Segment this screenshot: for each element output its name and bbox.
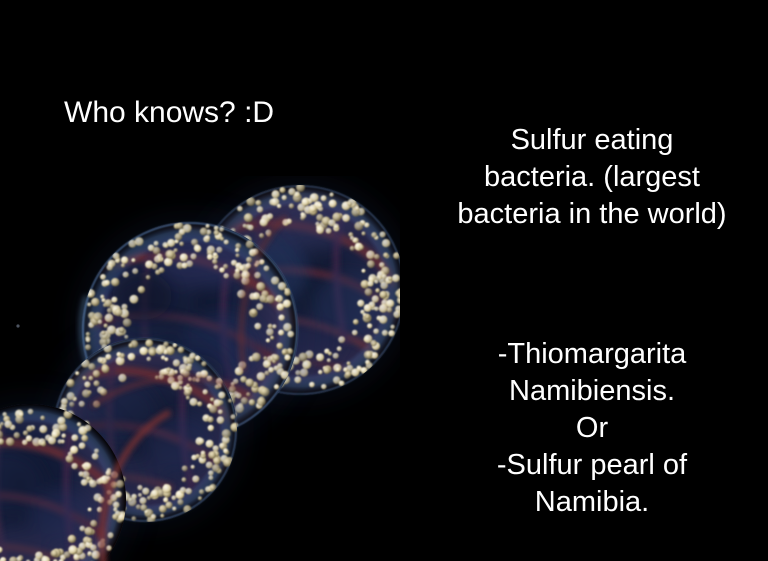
caption-who-knows: Who knows? :D [64, 94, 274, 131]
dust-speck [16, 324, 19, 327]
cell-body [195, 185, 400, 395]
cell-rim-glow [53, 338, 237, 522]
cell-membrane [83, 223, 297, 437]
caption-right-column: Sulfur eating bacteria. (largest bacteri… [424, 85, 760, 558]
cell-rim-glow [82, 222, 298, 438]
cell-outer-haze [74, 214, 306, 446]
bacterium-cell-lower-middle [45, 330, 245, 530]
bacterium-cell-center [74, 214, 306, 446]
septum-a-b [102, 412, 170, 561]
cell-internal-texture [0, 426, 124, 561]
cell-membrane [196, 186, 400, 394]
caption-spacer [424, 270, 760, 299]
septum-b-c [92, 378, 248, 406]
sulfur-granules [200, 183, 400, 389]
sulfur-granules [52, 339, 240, 524]
cell-body [53, 338, 237, 522]
micrograph-background [0, 176, 400, 561]
cell-membrane [54, 339, 236, 521]
bacterium-cell-bottom-left [0, 396, 134, 561]
cell-vignette [82, 222, 298, 438]
cell-vignette [53, 338, 237, 522]
cell-body [82, 222, 298, 438]
micrograph-svg [0, 176, 400, 561]
cell-rim-highlight [81, 296, 96, 382]
cell-internal-texture [206, 191, 400, 374]
bacterium-cell-upper-right [188, 178, 400, 402]
caption-description: Sulfur eating bacteria. (largest bacteri… [424, 122, 760, 233]
cell-outer-haze [188, 178, 400, 402]
cell-rim-glow [0, 404, 126, 561]
slide-canvas: Who knows? :D Sulfur eating bacteria. (l… [0, 0, 768, 561]
sulfur-granules [0, 409, 127, 561]
cell-septa [92, 216, 286, 561]
cell-outer-haze [45, 330, 245, 530]
cell-rim-glow [195, 185, 400, 395]
septum-c-d [241, 216, 286, 372]
cell-vignette [0, 404, 126, 561]
cell-body [0, 404, 126, 561]
caption-species-names: -Thiomargarita Namibiensis. Or -Sulfur p… [424, 336, 760, 521]
cell-internal-texture [56, 342, 244, 506]
sulfur-granules [85, 222, 294, 437]
cell-outer-haze [0, 396, 134, 561]
cell-vignette [195, 185, 400, 395]
cell-internal-texture [86, 225, 298, 426]
bacteria-micrograph [0, 176, 400, 561]
